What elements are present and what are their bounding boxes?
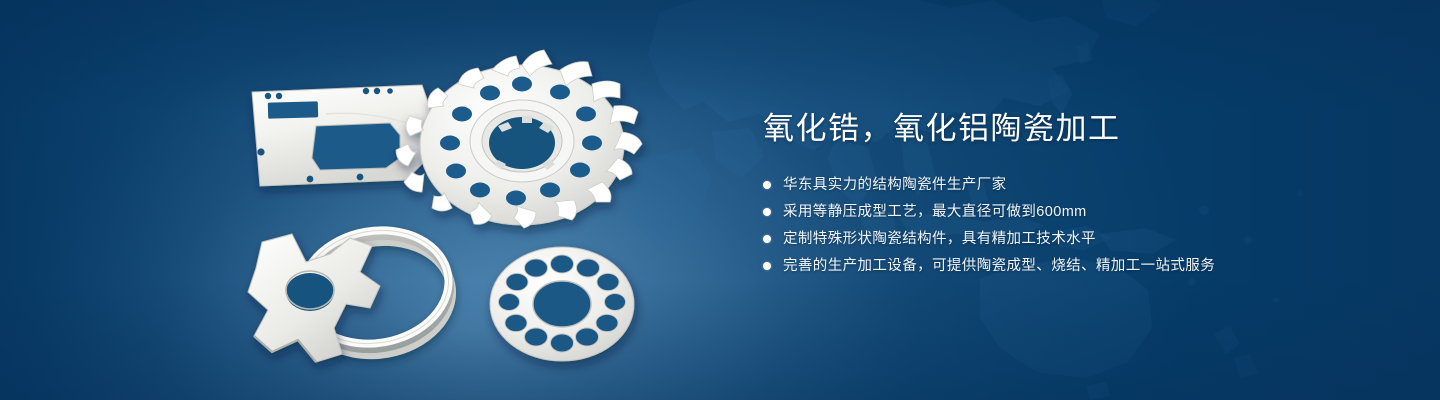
list-item: 采用等静压成型工艺，最大直径可做到600mm (763, 201, 1383, 223)
feature-text: 华东具实力的结构陶瓷件生产厂家 (783, 174, 1007, 196)
list-item: 华东具实力的结构陶瓷件生产厂家 (763, 174, 1383, 196)
rectangular-ceramic-plate (252, 85, 430, 186)
feature-text: 定制特殊形状陶瓷结构件，具有精加工技术水平 (783, 228, 1096, 250)
bullet-dot-icon (763, 181, 771, 189)
bullet-dot-icon (763, 208, 771, 216)
bullet-dot-icon (763, 262, 771, 270)
hero-banner: 氧化锆，氧化铝陶瓷加工 华东具实力的结构陶瓷件生产厂家 采用等静压成型工艺，最大… (0, 0, 1440, 400)
list-item: 完善的生产加工设备，可提供陶瓷成型、烧结、精加工一站式服务 (763, 255, 1383, 277)
banner-headline: 氧化锆，氧化铝陶瓷加工 (763, 108, 1383, 150)
bullet-dot-icon (763, 235, 771, 243)
feature-list: 华东具实力的结构陶瓷件生产厂家 采用等静压成型工艺，最大直径可做到600mm 定… (763, 174, 1383, 277)
feature-text: 采用等静压成型工艺，最大直径可做到600mm (783, 201, 1087, 223)
ceramic-products-image (230, 40, 700, 370)
list-item: 定制特殊形状陶瓷结构件，具有精加工技术水平 (763, 228, 1383, 250)
banner-copy: 氧化锆，氧化铝陶瓷加工 华东具实力的结构陶瓷件生产厂家 采用等静压成型工艺，最大… (763, 108, 1383, 282)
perforated-ceramic-disc (490, 247, 634, 361)
ceramic-impeller-disc (396, 50, 642, 228)
feature-text: 完善的生产加工设备，可提供陶瓷成型、烧结、精加工一站式服务 (783, 255, 1215, 277)
